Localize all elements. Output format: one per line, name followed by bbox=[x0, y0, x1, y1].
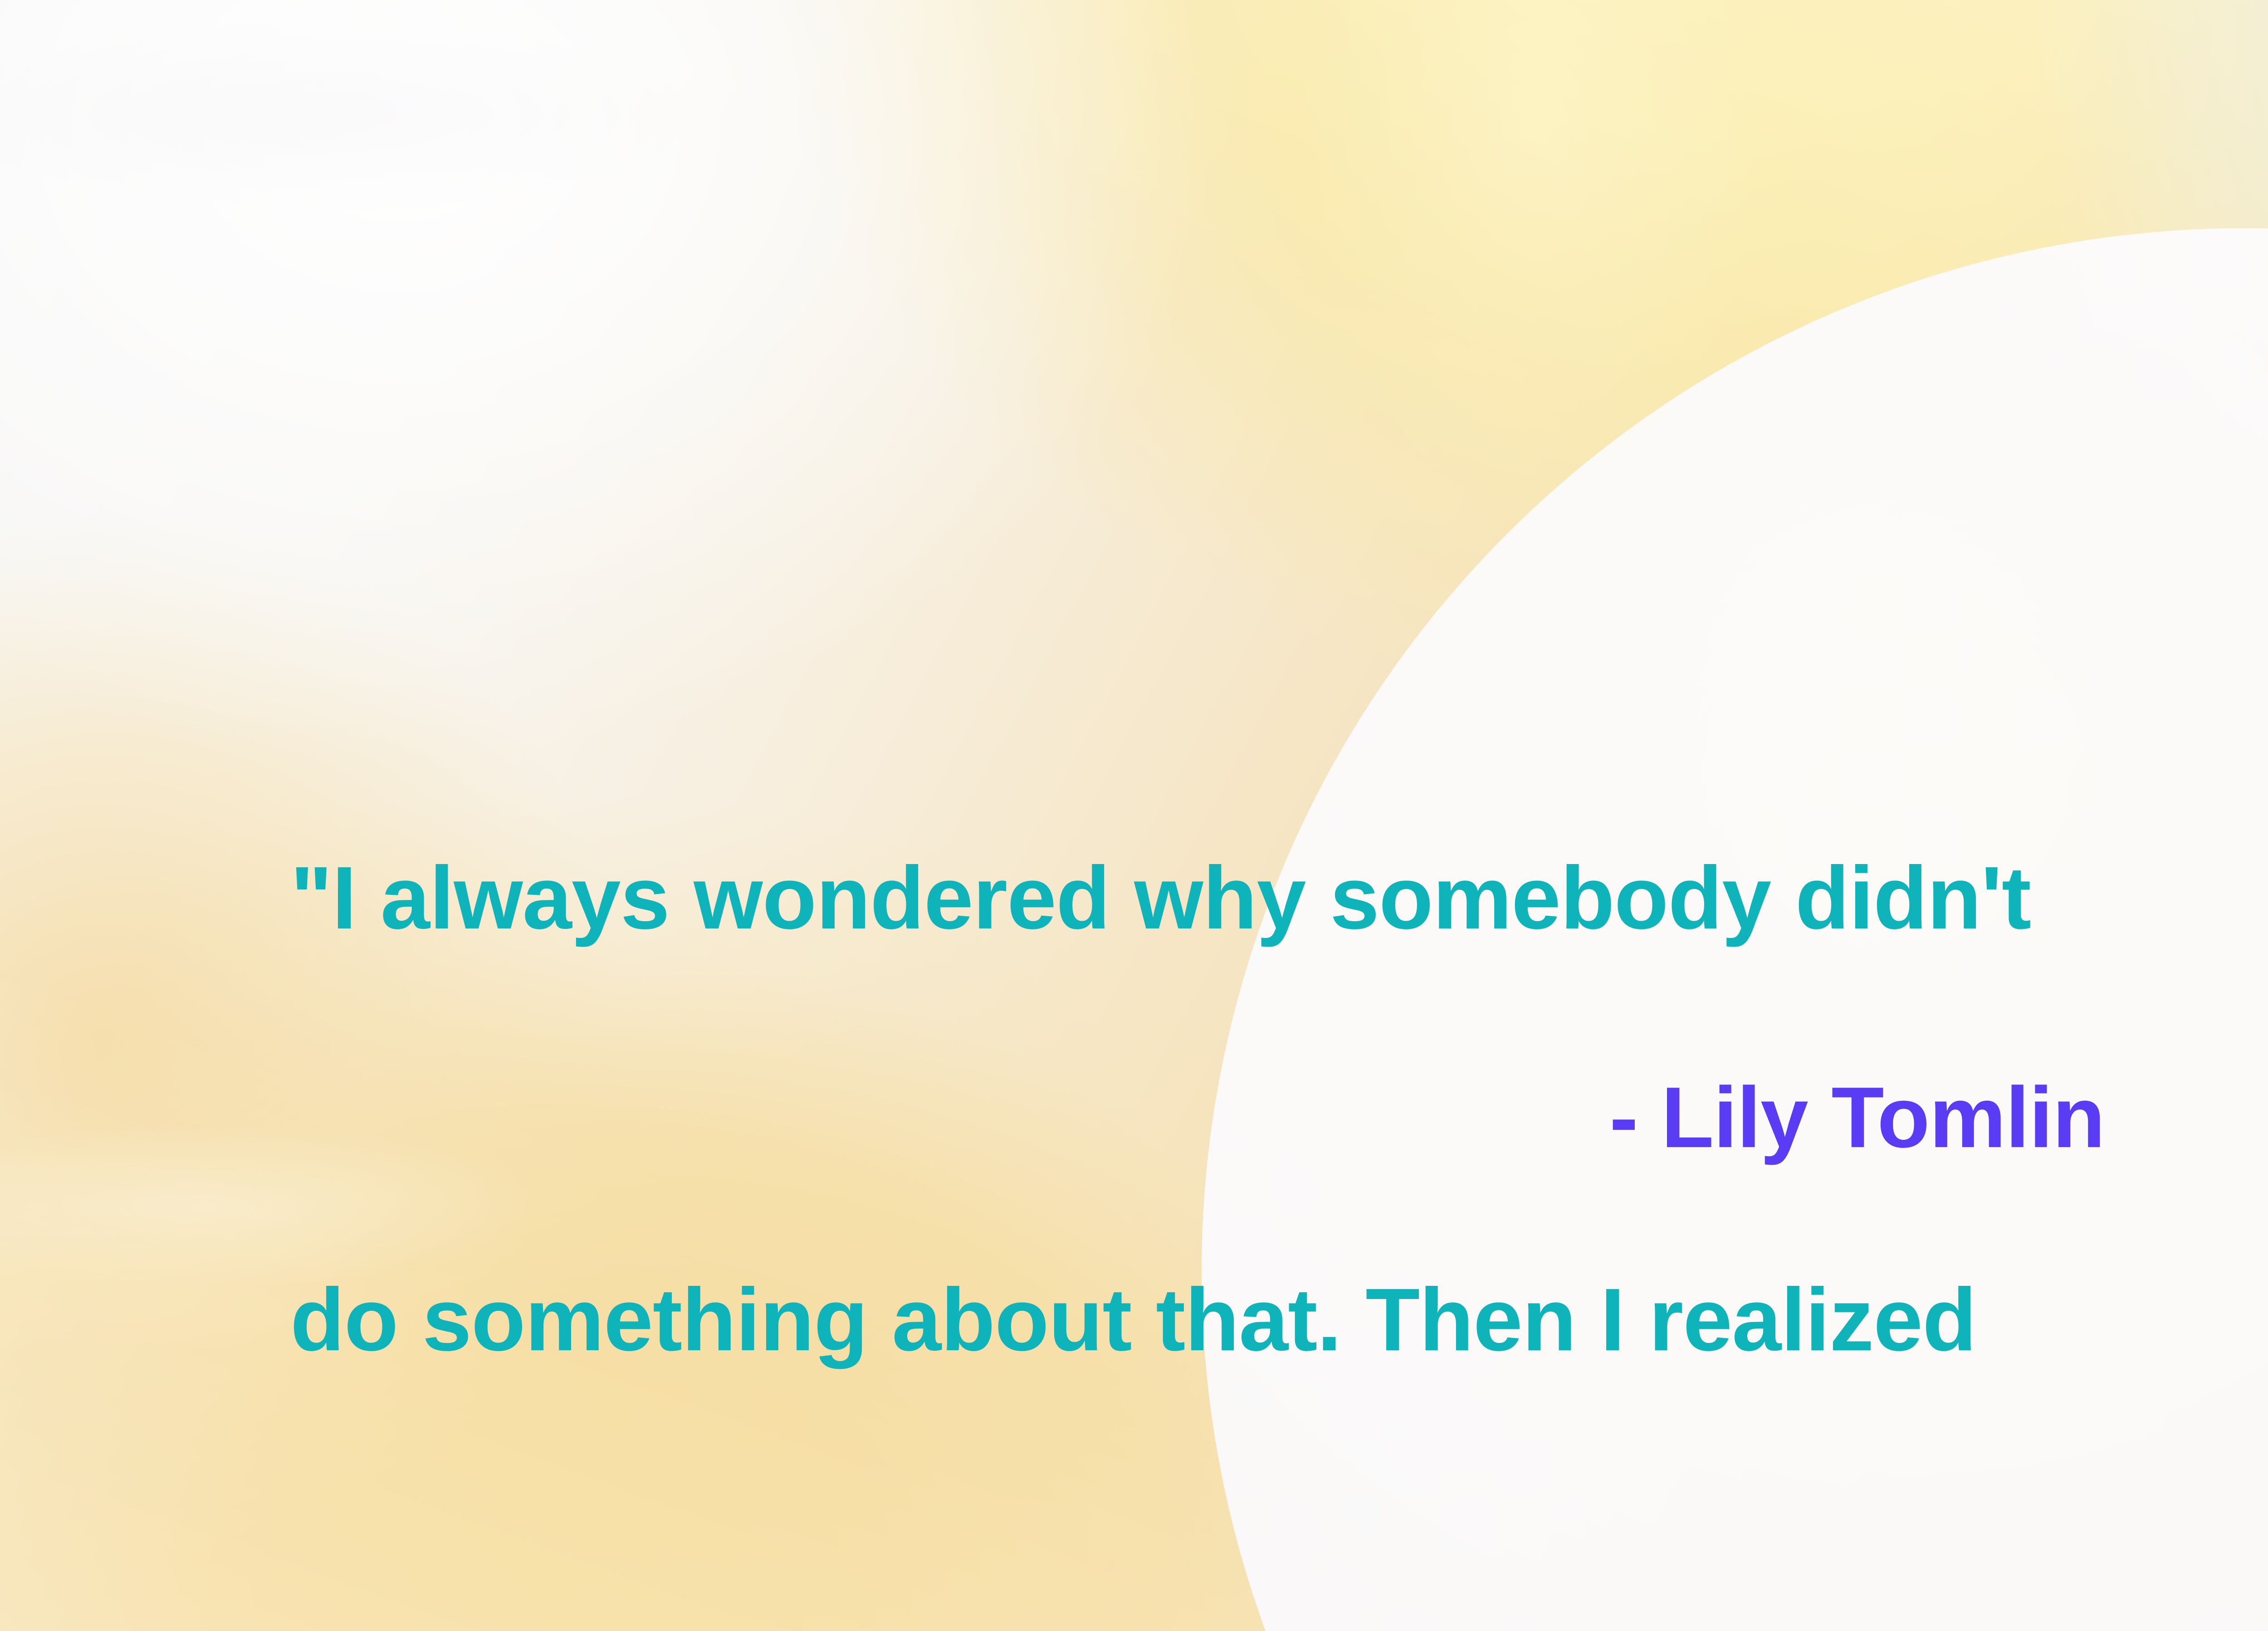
quote-line-2: do something about that. Then I realized bbox=[290, 1250, 2195, 1390]
quote-card: "I always wondered why somebody didn't d… bbox=[0, 0, 2268, 1631]
quote-line-1: "I always wondered why somebody didn't bbox=[290, 828, 2195, 968]
quote-content: "I always wondered why somebody didn't d… bbox=[0, 0, 2268, 1631]
quote-attribution: - Lily Tomlin bbox=[0, 1068, 2105, 1167]
